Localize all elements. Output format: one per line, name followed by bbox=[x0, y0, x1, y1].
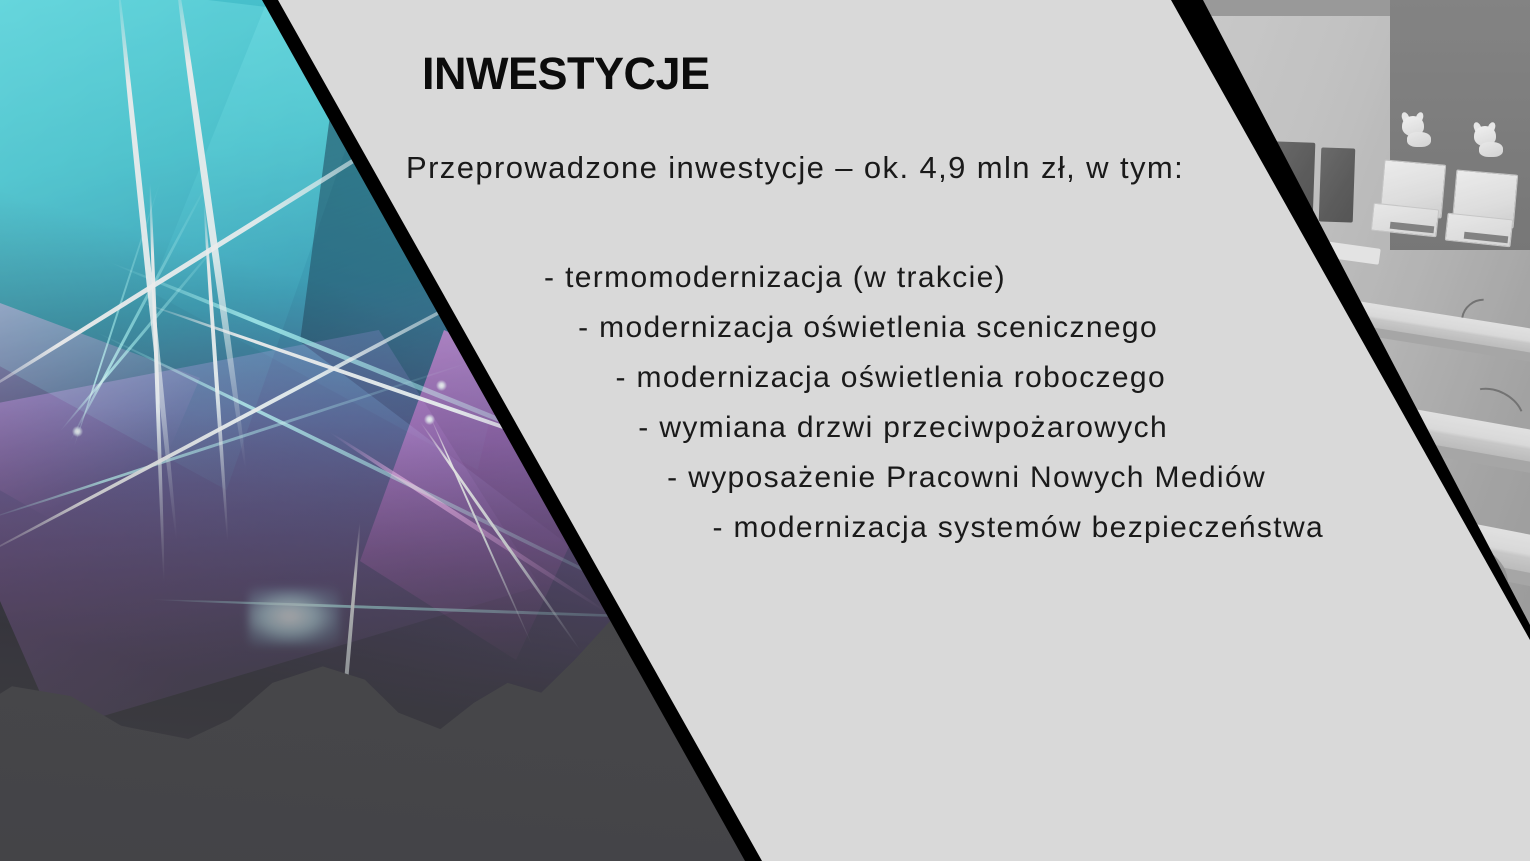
investment-list: - termomodernizacja (w trakcie) - modern… bbox=[0, 253, 1326, 553]
list-item: - modernizacja oświetlenia scenicznego bbox=[0, 303, 1326, 353]
lab-monitor-2 bbox=[1319, 147, 1356, 222]
robot-figure-1 bbox=[1398, 116, 1432, 150]
list-item: - termomodernizacja (w trakcie) bbox=[0, 253, 1326, 303]
lab-chair-post bbox=[1444, 516, 1454, 558]
list-item: - modernizacja oświetlenia roboczego bbox=[0, 353, 1326, 403]
list-item: - modernizacja systemów bezpieczeństwa bbox=[0, 503, 1326, 553]
page-title: INWESTYCJE bbox=[422, 48, 710, 100]
presentation-slide: INWESTYCJE Przeprowadzone inwestycje – o… bbox=[0, 0, 1530, 861]
intro-text: Przeprowadzone inwestycje – ok. 4,9 mln … bbox=[406, 150, 1184, 186]
list-item: - wymiana drzwi przeciwpożarowych bbox=[0, 403, 1326, 453]
list-item: - wyposażenie Pracowni Nowych Mediów bbox=[0, 453, 1326, 503]
phone-screen-glow bbox=[248, 588, 340, 646]
robot-body bbox=[1479, 142, 1503, 157]
robot-figure-2 bbox=[1470, 126, 1504, 160]
robot-body bbox=[1407, 132, 1431, 147]
